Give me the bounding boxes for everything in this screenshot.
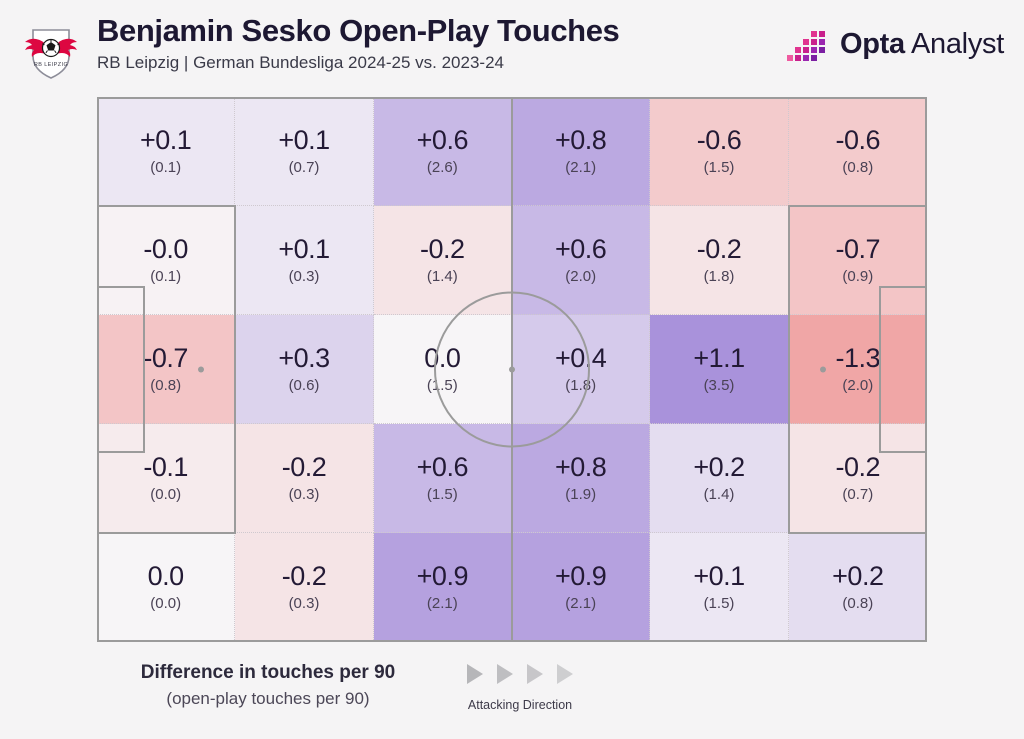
legend-title: Difference in touches per 90 [118, 660, 418, 686]
chart-subtitle: RB Leipzig | German Bundesliga 2024-25 v… [97, 51, 619, 75]
cell-difference-value: -0.2 [697, 234, 742, 264]
cell-difference-value: +0.1 [693, 561, 744, 591]
heatmap-cell: +0.6(1.5) [374, 424, 512, 533]
heatmap-cell: +0.3(0.6) [235, 315, 373, 424]
legend-subtitle: (open-play touches per 90) [118, 686, 418, 711]
heatmap-cell: +0.1(0.7) [235, 97, 373, 206]
cell-raw-value: (0.0) [150, 594, 181, 614]
cell-difference-value: +0.9 [417, 561, 468, 591]
cell-raw-value: (0.7) [842, 485, 873, 505]
cell-difference-value: -0.2 [420, 234, 465, 264]
cell-raw-value: (0.8) [842, 158, 873, 178]
heatmap-cell: -0.7(0.9) [789, 206, 927, 315]
cell-difference-value: +0.9 [555, 561, 606, 591]
cell-raw-value: (0.8) [150, 376, 181, 396]
title-block: Benjamin Sesko Open-Play Touches RB Leip… [97, 13, 619, 75]
svg-text:RB LEIPZIG: RB LEIPZIG [34, 62, 68, 68]
cell-difference-value: -0.7 [836, 234, 881, 264]
cell-difference-value: +0.2 [693, 452, 744, 482]
cell-difference-value: -0.2 [282, 452, 327, 482]
cell-raw-value: (0.3) [289, 594, 320, 614]
attacking-direction-label: Attacking Direction [450, 698, 590, 712]
cell-raw-value: (1.5) [704, 158, 735, 178]
heatmap-cell: +0.8(1.9) [512, 424, 650, 533]
heatmap-cell: +0.6(2.6) [374, 97, 512, 206]
heatmap-cell: +1.1(3.5) [650, 315, 788, 424]
cell-difference-value: -1.3 [836, 343, 881, 373]
play-triangle-icon [494, 662, 516, 686]
heatmap-cell: -0.6(0.8) [789, 97, 927, 206]
cell-raw-value: (0.9) [842, 267, 873, 287]
cell-difference-value: -0.6 [836, 125, 881, 155]
cell-raw-value: (1.4) [427, 267, 458, 287]
cell-difference-value: +1.1 [693, 343, 744, 373]
cell-difference-value: +0.1 [278, 234, 329, 264]
play-triangle-icon [554, 662, 576, 686]
chart-footer: Difference in touches per 90 (open-play … [0, 655, 1024, 739]
cell-difference-value: -0.2 [282, 561, 327, 591]
heatmap-cell: +0.9(2.1) [512, 533, 650, 642]
attacking-direction-arrows [450, 660, 590, 688]
cell-raw-value: (0.8) [842, 594, 873, 614]
heatmap-cell: +0.2(1.4) [650, 424, 788, 533]
heatmap-cell: 0.0(1.5) [374, 315, 512, 424]
heatmap-cell: +0.1(1.5) [650, 533, 788, 642]
cell-difference-value: -0.1 [143, 452, 188, 482]
cell-difference-value: +0.1 [278, 125, 329, 155]
play-triangle-icon [524, 662, 546, 686]
heatmap-cell: -0.0(0.1) [97, 206, 235, 315]
cell-raw-value: (3.5) [704, 376, 735, 396]
cell-difference-value: -0.7 [143, 343, 188, 373]
cell-raw-value: (0.0) [150, 485, 181, 505]
cell-difference-value: +0.8 [555, 125, 606, 155]
opta-analyst-logo: Opta Analyst [787, 22, 1004, 66]
heatmap-cell: -0.2(0.3) [235, 424, 373, 533]
heatmap-cell: -0.2(1.4) [374, 206, 512, 315]
heatmap-cell: +0.8(2.1) [512, 97, 650, 206]
cell-raw-value: (1.5) [704, 594, 735, 614]
heatmap-cell: +0.1(0.1) [97, 97, 235, 206]
cell-raw-value: (1.4) [704, 485, 735, 505]
cell-raw-value: (2.1) [565, 158, 596, 178]
cell-difference-value: 0.0 [424, 343, 460, 373]
opta-name-light: Analyst [905, 28, 1004, 60]
cell-difference-value: +0.4 [555, 343, 606, 373]
heatmap-grid: +0.1(0.1)+0.1(0.7)+0.6(2.6)+0.8(2.1)-0.6… [97, 97, 927, 642]
heatmap-cell: +0.4(1.8) [512, 315, 650, 424]
heatmap-cell: -1.3(2.0) [789, 315, 927, 424]
cell-raw-value: (2.0) [565, 267, 596, 287]
heatmap-cell: +0.6(2.0) [512, 206, 650, 315]
cell-raw-value: (1.8) [704, 267, 735, 287]
cell-raw-value: (1.8) [565, 376, 596, 396]
cell-raw-value: (0.6) [289, 376, 320, 396]
heatmap-cell: +0.1(0.3) [235, 206, 373, 315]
opta-staircase-icon [787, 24, 831, 64]
heatmap-cell: -0.2(1.8) [650, 206, 788, 315]
cell-difference-value: 0.0 [148, 561, 184, 591]
cell-raw-value: (2.0) [842, 376, 873, 396]
cell-raw-value: (1.5) [427, 376, 458, 396]
heatmap-cell: -0.2(0.7) [789, 424, 927, 533]
cell-difference-value: +0.1 [140, 125, 191, 155]
cell-difference-value: -0.2 [836, 452, 881, 482]
page-title: Benjamin Sesko Open-Play Touches [97, 13, 619, 49]
cell-raw-value: (0.1) [150, 158, 181, 178]
cell-difference-value: +0.6 [555, 234, 606, 264]
play-triangle-icon [464, 662, 486, 686]
cell-difference-value: +0.6 [417, 125, 468, 155]
pitch-heatmap: +0.1(0.1)+0.1(0.7)+0.6(2.6)+0.8(2.1)-0.6… [97, 97, 927, 642]
cell-difference-value: +0.3 [278, 343, 329, 373]
cell-raw-value: (1.5) [427, 485, 458, 505]
cell-difference-value: -0.6 [697, 125, 742, 155]
legend-block: Difference in touches per 90 (open-play … [118, 660, 418, 711]
heatmap-cell: +0.2(0.8) [789, 533, 927, 642]
cell-raw-value: (0.3) [289, 267, 320, 287]
cell-difference-value: +0.2 [832, 561, 883, 591]
cell-raw-value: (2.1) [565, 594, 596, 614]
cell-difference-value: -0.0 [143, 234, 188, 264]
heatmap-cell: -0.1(0.0) [97, 424, 235, 533]
heatmap-cell: -0.7(0.8) [97, 315, 235, 424]
cell-raw-value: (2.6) [427, 158, 458, 178]
chart-header: RB LEIPZIG Benjamin Sesko Open-Play Touc… [0, 0, 1024, 92]
cell-raw-value: (0.7) [289, 158, 320, 178]
rb-leipzig-crest-icon: RB LEIPZIG [18, 16, 84, 82]
cell-raw-value: (0.3) [289, 485, 320, 505]
heatmap-cell: -0.2(0.3) [235, 533, 373, 642]
cell-difference-value: +0.8 [555, 452, 606, 482]
cell-difference-value: +0.6 [417, 452, 468, 482]
cell-raw-value: (2.1) [427, 594, 458, 614]
heatmap-cell: +0.9(2.1) [374, 533, 512, 642]
heatmap-cell: 0.0(0.0) [97, 533, 235, 642]
attacking-direction-block: Attacking Direction [450, 660, 590, 712]
opta-name-bold: Opta [840, 28, 905, 60]
cell-raw-value: (1.9) [565, 485, 596, 505]
cell-raw-value: (0.1) [150, 267, 181, 287]
opta-wordmark: Opta Analyst [840, 28, 1004, 61]
heatmap-cell: -0.6(1.5) [650, 97, 788, 206]
